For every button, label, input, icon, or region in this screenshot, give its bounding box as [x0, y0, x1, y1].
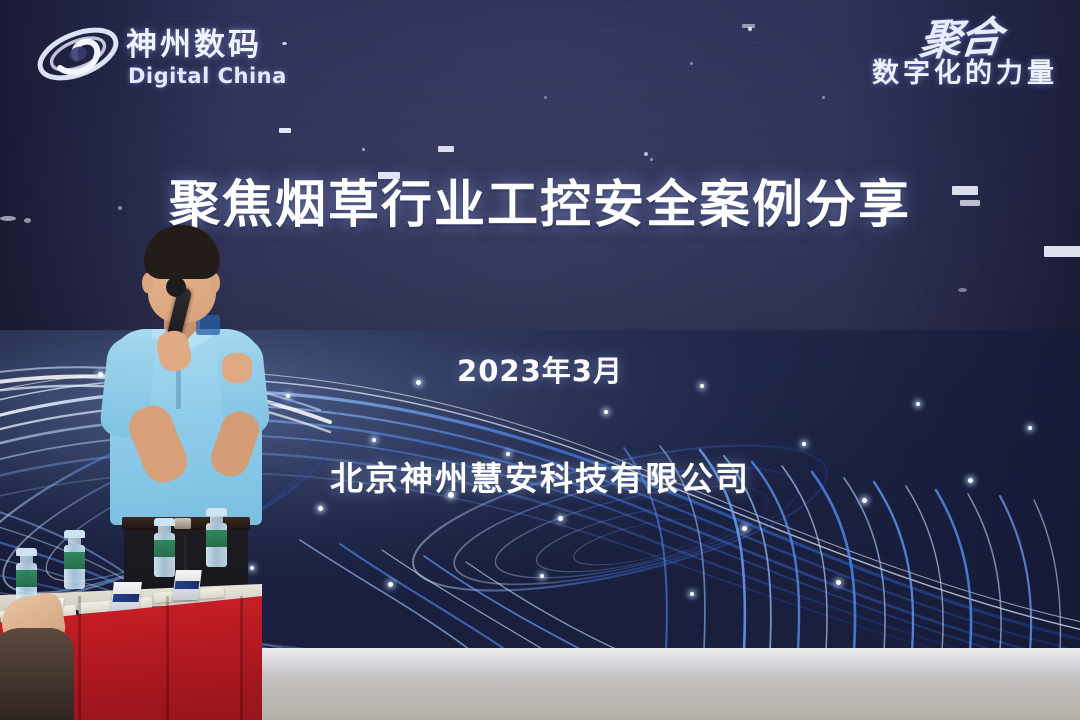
bottle-label — [206, 530, 227, 547]
bottle-cap — [64, 530, 85, 538]
audience-member-silhouette — [0, 628, 74, 720]
bottle-neck — [158, 526, 171, 533]
light-particle — [742, 526, 747, 531]
skirt-fold — [240, 596, 243, 720]
brand-name-cn: 神州数码 — [126, 30, 262, 61]
bottle-neck — [20, 556, 33, 563]
placard-name-strip — [113, 594, 140, 602]
star-speck — [279, 128, 291, 133]
star-speck — [650, 158, 653, 161]
bottle-cap — [16, 548, 37, 556]
belt-buckle — [174, 518, 191, 529]
water-bottle — [206, 508, 227, 567]
light-particle — [690, 592, 694, 596]
speaker-hand-right — [222, 353, 252, 383]
slogan-brush-text: 聚合 — [786, 16, 1002, 69]
galaxy-swirl-icon — [36, 18, 120, 90]
star-speck — [690, 62, 693, 65]
bottle-body — [206, 523, 227, 567]
event-slogan: 聚合 数字化的力量 — [790, 16, 1058, 110]
light-particle — [388, 582, 393, 587]
bottle-body — [154, 533, 175, 577]
light-particle — [318, 506, 323, 511]
bottle-neck — [210, 516, 223, 523]
placard-name-strip — [175, 581, 200, 589]
bottle-label — [154, 540, 175, 557]
skirt-fold — [78, 596, 81, 720]
light-particle — [286, 394, 290, 398]
light-particle — [558, 516, 563, 521]
star-speck — [438, 146, 454, 152]
star-speck — [544, 96, 547, 99]
light-particle — [836, 580, 841, 585]
water-bottle — [154, 518, 175, 577]
bottle-label — [16, 570, 37, 587]
light-particle — [802, 442, 806, 446]
speaker-hair — [144, 225, 220, 279]
star-speck — [1044, 246, 1080, 257]
light-particle — [916, 402, 920, 406]
bottle-cap — [206, 508, 227, 516]
brand-logo: 神州数码 Digital China — [36, 14, 304, 96]
name-placard — [172, 570, 202, 600]
bottle-neck — [68, 538, 81, 545]
conference-stage-screenshot: 神州数码 Digital China 聚合 数字化的力量 聚焦烟草行业工控安全案… — [0, 0, 1080, 720]
light-particle — [540, 574, 544, 578]
water-bottle — [64, 530, 85, 589]
skirt-fold — [166, 596, 169, 720]
star-speck — [362, 148, 365, 151]
light-particle — [604, 410, 608, 414]
bottle-body — [64, 545, 85, 589]
star-speck — [748, 27, 752, 31]
star-speck — [644, 152, 648, 156]
bottle-label — [64, 552, 85, 569]
bottle-cap — [154, 518, 175, 526]
brand-name-en: Digital China — [128, 66, 287, 87]
light-particle — [1028, 426, 1032, 430]
light-particle — [372, 438, 376, 442]
star-speck — [958, 288, 967, 292]
